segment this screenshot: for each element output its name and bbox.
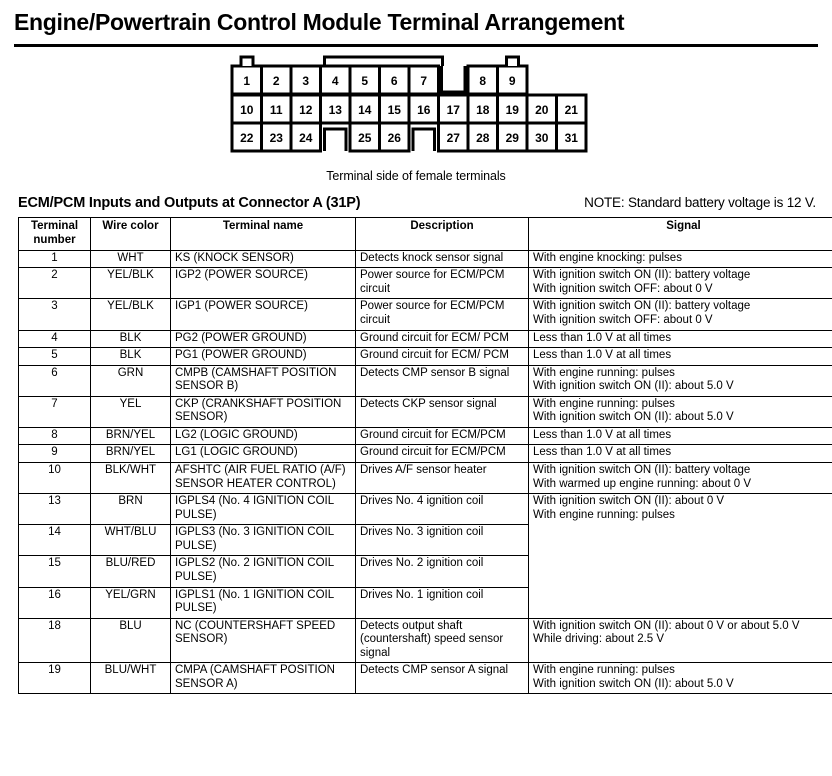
connector-pin-31: 31 (565, 131, 579, 145)
connector-pin-14: 14 (358, 103, 372, 117)
table-row: 4BLKPG2 (POWER GROUND)Ground circuit for… (19, 330, 832, 348)
connector-pin-26: 26 (388, 131, 402, 145)
table-header: Terminal number Wire color Terminal name… (19, 218, 832, 250)
connector-tab-left (241, 57, 253, 66)
cell-terminal-name: IGPLS3 (No. 3 IGNITION COIL PULSE) (171, 525, 356, 556)
cell-wire-color: BLU/RED (91, 556, 171, 587)
cell-terminal-name: LG1 (LOGIC GROUND) (171, 445, 356, 463)
cell-terminal-name: NC (COUNTERSHAFT SPEED SENSOR) (171, 618, 356, 663)
signal-line: With ignition switch OFF: about 0 V (533, 283, 832, 297)
cell-terminal-number: 10 (19, 463, 91, 494)
cell-terminal-number: 14 (19, 525, 91, 556)
cell-signal: Less than 1.0 V at all times (529, 348, 832, 366)
table-row: 13BRNIGPLS4 (No. 4 IGNITION COIL PULSE)D… (19, 494, 832, 525)
cell-signal: With engine running: pulsesWith ignition… (529, 396, 832, 427)
connector-tab-right (507, 57, 519, 66)
cell-terminal-number: 18 (19, 618, 91, 663)
connector-pin-23: 23 (270, 131, 284, 145)
cell-signal: With ignition switch ON (II): about 0 VW… (529, 494, 832, 619)
signal-line: With engine running: pulses (533, 509, 832, 523)
connector-pin-22: 22 (240, 131, 254, 145)
cell-signal: With ignition switch ON (II): battery vo… (529, 299, 832, 330)
connector-diagram: 1234567891011121314151617181920212223242… (0, 55, 832, 161)
cell-terminal-number: 15 (19, 556, 91, 587)
signal-line: Less than 1.0 V at all times (533, 332, 832, 346)
terminal-number-line1: Terminal (31, 220, 78, 232)
cell-terminal-name: CMPB (CAMSHAFT POSITION SENSOR B) (171, 365, 356, 396)
section-title: ECM/PCM Inputs and Outputs at Connector … (18, 195, 360, 211)
section-header-bar: ECM/PCM Inputs and Outputs at Connector … (18, 195, 816, 211)
connector-pin-30: 30 (535, 131, 549, 145)
table-row: 3YEL/BLKIGP1 (POWER SOURCE)Power source … (19, 299, 832, 330)
signal-line: Less than 1.0 V at all times (533, 446, 832, 460)
signal-line: With engine running: pulses (533, 398, 832, 412)
table-row: 1WHTKS (KNOCK SENSOR)Detects knock senso… (19, 250, 832, 268)
column-header-description: Description (356, 218, 529, 250)
ecm-pcm-pin-table: Terminal number Wire color Terminal name… (18, 217, 832, 694)
connector-notch-top (442, 66, 466, 92)
signal-line: With ignition switch ON (II): about 5.0 … (533, 411, 832, 425)
cell-terminal-number: 7 (19, 396, 91, 427)
cell-terminal-name: IGPLS2 (No. 2 IGNITION COIL PULSE) (171, 556, 356, 587)
cell-signal: With ignition switch ON (II): battery vo… (529, 463, 832, 494)
table-row: 5BLKPG1 (POWER GROUND)Ground circuit for… (19, 348, 832, 366)
connector-pin-5: 5 (361, 74, 368, 88)
cell-terminal-number: 13 (19, 494, 91, 525)
cell-terminal-number: 9 (19, 445, 91, 463)
cell-description: Detects output shaft (countershaft) spee… (356, 618, 529, 663)
page-title: Engine/Powertrain Control Module Termina… (0, 0, 832, 35)
connector-pin-2: 2 (273, 74, 280, 88)
connector-pin-11: 11 (270, 103, 283, 117)
signal-line: With engine knocking: pulses (533, 252, 832, 266)
connector-pin-10: 10 (240, 103, 254, 117)
connector-a-31p-svg: 1234567891011121314151617181920212223242… (226, 55, 606, 161)
signal-line: With engine running: pulses (533, 367, 832, 381)
cell-signal: With ignition switch ON (II): battery vo… (529, 268, 832, 299)
signal-line: With ignition switch OFF: about 0 V (533, 314, 832, 328)
column-header-terminal-name: Terminal name (171, 218, 356, 250)
cell-description: Ground circuit for ECM/PCM (356, 427, 529, 445)
cell-terminal-name: IGP2 (POWER SOURCE) (171, 268, 356, 299)
cell-wire-color: YEL/BLK (91, 268, 171, 299)
cell-terminal-name: IGP1 (POWER SOURCE) (171, 299, 356, 330)
cell-description: Detects CMP sensor A signal (356, 663, 529, 694)
connector-pin-19: 19 (506, 103, 520, 117)
signal-line: With ignition switch ON (II): about 5.0 … (533, 678, 832, 692)
signal-line: Less than 1.0 V at all times (533, 429, 832, 443)
table-row: 6GRNCMPB (CAMSHAFT POSITION SENSOR B)Det… (19, 365, 832, 396)
table-row: 7YELCKP (CRANKSHAFT POSITION SENSOR)Dete… (19, 396, 832, 427)
cell-terminal-number: 1 (19, 250, 91, 268)
cell-terminal-name: KS (KNOCK SENSOR) (171, 250, 356, 268)
cell-description: Detects knock sensor signal (356, 250, 529, 268)
connector-notch-bottom-1 (325, 129, 347, 151)
cell-wire-color: BLK (91, 348, 171, 366)
cell-description: Power source for ECM/PCM circuit (356, 268, 529, 299)
cell-signal: Less than 1.0 V at all times (529, 445, 832, 463)
cell-wire-color: YEL (91, 396, 171, 427)
cell-wire-color: WHT/BLU (91, 525, 171, 556)
connector-pin-27: 27 (447, 131, 461, 145)
cell-terminal-name: PG2 (POWER GROUND) (171, 330, 356, 348)
connector-pin-20: 20 (535, 103, 549, 117)
cell-description: Drives No. 1 ignition coil (356, 587, 529, 618)
connector-pin-7: 7 (420, 74, 427, 88)
cell-description: Ground circuit for ECM/ PCM (356, 330, 529, 348)
cell-signal: Less than 1.0 V at all times (529, 330, 832, 348)
cell-signal: With engine knocking: pulses (529, 250, 832, 268)
signal-line: With ignition switch ON (II): battery vo… (533, 269, 832, 283)
battery-voltage-note: NOTE: Standard battery voltage is 12 V. (584, 195, 816, 210)
connector-pin-12: 12 (299, 103, 313, 117)
connector-pin-6: 6 (391, 74, 398, 88)
cell-terminal-number: 5 (19, 348, 91, 366)
signal-line: With ignition switch ON (II): about 5.0 … (533, 380, 832, 394)
connector-pin-1: 1 (243, 74, 250, 88)
signal-line: While driving: about 2.5 V (533, 633, 832, 647)
cell-signal: With engine running: pulsesWith ignition… (529, 663, 832, 694)
table-row: 19BLU/WHTCMPA (CAMSHAFT POSITION SENSOR … (19, 663, 832, 694)
signal-line: With ignition switch ON (II): battery vo… (533, 464, 832, 478)
cell-signal: With ignition switch ON (II): about 0 V … (529, 618, 832, 663)
cell-description: Ground circuit for ECM/PCM (356, 445, 529, 463)
cell-terminal-name: PG1 (POWER GROUND) (171, 348, 356, 366)
signal-line: Less than 1.0 V at all times (533, 349, 832, 363)
cell-description: Ground circuit for ECM/ PCM (356, 348, 529, 366)
cell-wire-color: BRN/YEL (91, 445, 171, 463)
cell-wire-color: BLK (91, 330, 171, 348)
connector-pin-13: 13 (329, 103, 343, 117)
cell-wire-color: BLU/WHT (91, 663, 171, 694)
table-row: 9BRN/YELLG1 (LOGIC GROUND)Ground circuit… (19, 445, 832, 463)
cell-wire-color: BRN/YEL (91, 427, 171, 445)
connector-pin-9: 9 (509, 74, 516, 88)
terminal-number-line2: number (33, 234, 75, 246)
signal-line: With ignition switch ON (II): about 0 V (533, 495, 832, 509)
connector-pin-8: 8 (479, 74, 486, 88)
cell-terminal-name: CMPA (CAMSHAFT POSITION SENSOR A) (171, 663, 356, 694)
cell-wire-color: GRN (91, 365, 171, 396)
connector-pin-24: 24 (299, 131, 313, 145)
column-header-signal: Signal (529, 218, 832, 250)
title-divider (14, 44, 818, 47)
cell-terminal-name: IGPLS1 (No. 1 IGNITION COIL PULSE) (171, 587, 356, 618)
cell-terminal-name: LG2 (LOGIC GROUND) (171, 427, 356, 445)
table-row: 2YEL/BLKIGP2 (POWER SOURCE)Power source … (19, 268, 832, 299)
connector-pin-21: 21 (565, 103, 579, 117)
column-header-terminal-number: Terminal number (19, 218, 91, 250)
column-header-wire-color: Wire color (91, 218, 171, 250)
connector-pin-28: 28 (476, 131, 490, 145)
connector-pin-29: 29 (506, 131, 520, 145)
cell-description: Detects CKP sensor signal (356, 396, 529, 427)
cell-terminal-number: 6 (19, 365, 91, 396)
cell-wire-color: BLU (91, 618, 171, 663)
cell-description: Drives No. 3 ignition coil (356, 525, 529, 556)
cell-terminal-name: IGPLS4 (No. 4 IGNITION COIL PULSE) (171, 494, 356, 525)
signal-line: With ignition switch ON (II): battery vo… (533, 300, 832, 314)
connector-caption: Terminal side of female terminals (0, 169, 832, 183)
cell-signal: Less than 1.0 V at all times (529, 427, 832, 445)
table-row: 18BLUNC (COUNTERSHAFT SPEED SENSOR)Detec… (19, 618, 832, 663)
cell-terminal-number: 2 (19, 268, 91, 299)
signal-line: With warmed up engine running: about 0 V (533, 478, 832, 492)
cell-terminal-number: 19 (19, 663, 91, 694)
connector-pin-17: 17 (447, 103, 461, 117)
connector-pin-16: 16 (417, 103, 431, 117)
cell-description: Drives No. 4 ignition coil (356, 494, 529, 525)
cell-wire-color: WHT (91, 250, 171, 268)
cell-description: Power source for ECM/PCM circuit (356, 299, 529, 330)
cell-description: Drives A/F sensor heater (356, 463, 529, 494)
cell-terminal-number: 16 (19, 587, 91, 618)
cell-terminal-name: AFSHTC (AIR FUEL RATIO (A/F) SENSOR HEAT… (171, 463, 356, 494)
table-row: 8BRN/YELLG2 (LOGIC GROUND)Ground circuit… (19, 427, 832, 445)
connector-pin-25: 25 (358, 131, 372, 145)
connector-pin-18: 18 (476, 103, 490, 117)
cell-terminal-number: 8 (19, 427, 91, 445)
cell-terminal-number: 3 (19, 299, 91, 330)
connector-pin-15: 15 (388, 103, 402, 117)
connector-notch-bottom-2 (413, 129, 435, 151)
cell-terminal-name: CKP (CRANKSHAFT POSITION SENSOR) (171, 396, 356, 427)
cell-description: Detects CMP sensor B signal (356, 365, 529, 396)
signal-line: With ignition switch ON (II): about 0 V … (533, 620, 832, 634)
table-header-row: Terminal number Wire color Terminal name… (19, 218, 832, 250)
cell-wire-color: YEL/BLK (91, 299, 171, 330)
cell-signal: With engine running: pulsesWith ignition… (529, 365, 832, 396)
cell-wire-color: BRN (91, 494, 171, 525)
cell-wire-color: YEL/GRN (91, 587, 171, 618)
connector-pin-3: 3 (302, 74, 309, 88)
signal-line: With engine running: pulses (533, 664, 832, 678)
cell-terminal-number: 4 (19, 330, 91, 348)
table-row: 10BLK/WHTAFSHTC (AIR FUEL RATIO (A/F) SE… (19, 463, 832, 494)
cell-wire-color: BLK/WHT (91, 463, 171, 494)
table-body: 1WHTKS (KNOCK SENSOR)Detects knock senso… (19, 250, 832, 694)
cell-description: Drives No. 2 ignition coil (356, 556, 529, 587)
connector-pin-4: 4 (332, 74, 339, 88)
